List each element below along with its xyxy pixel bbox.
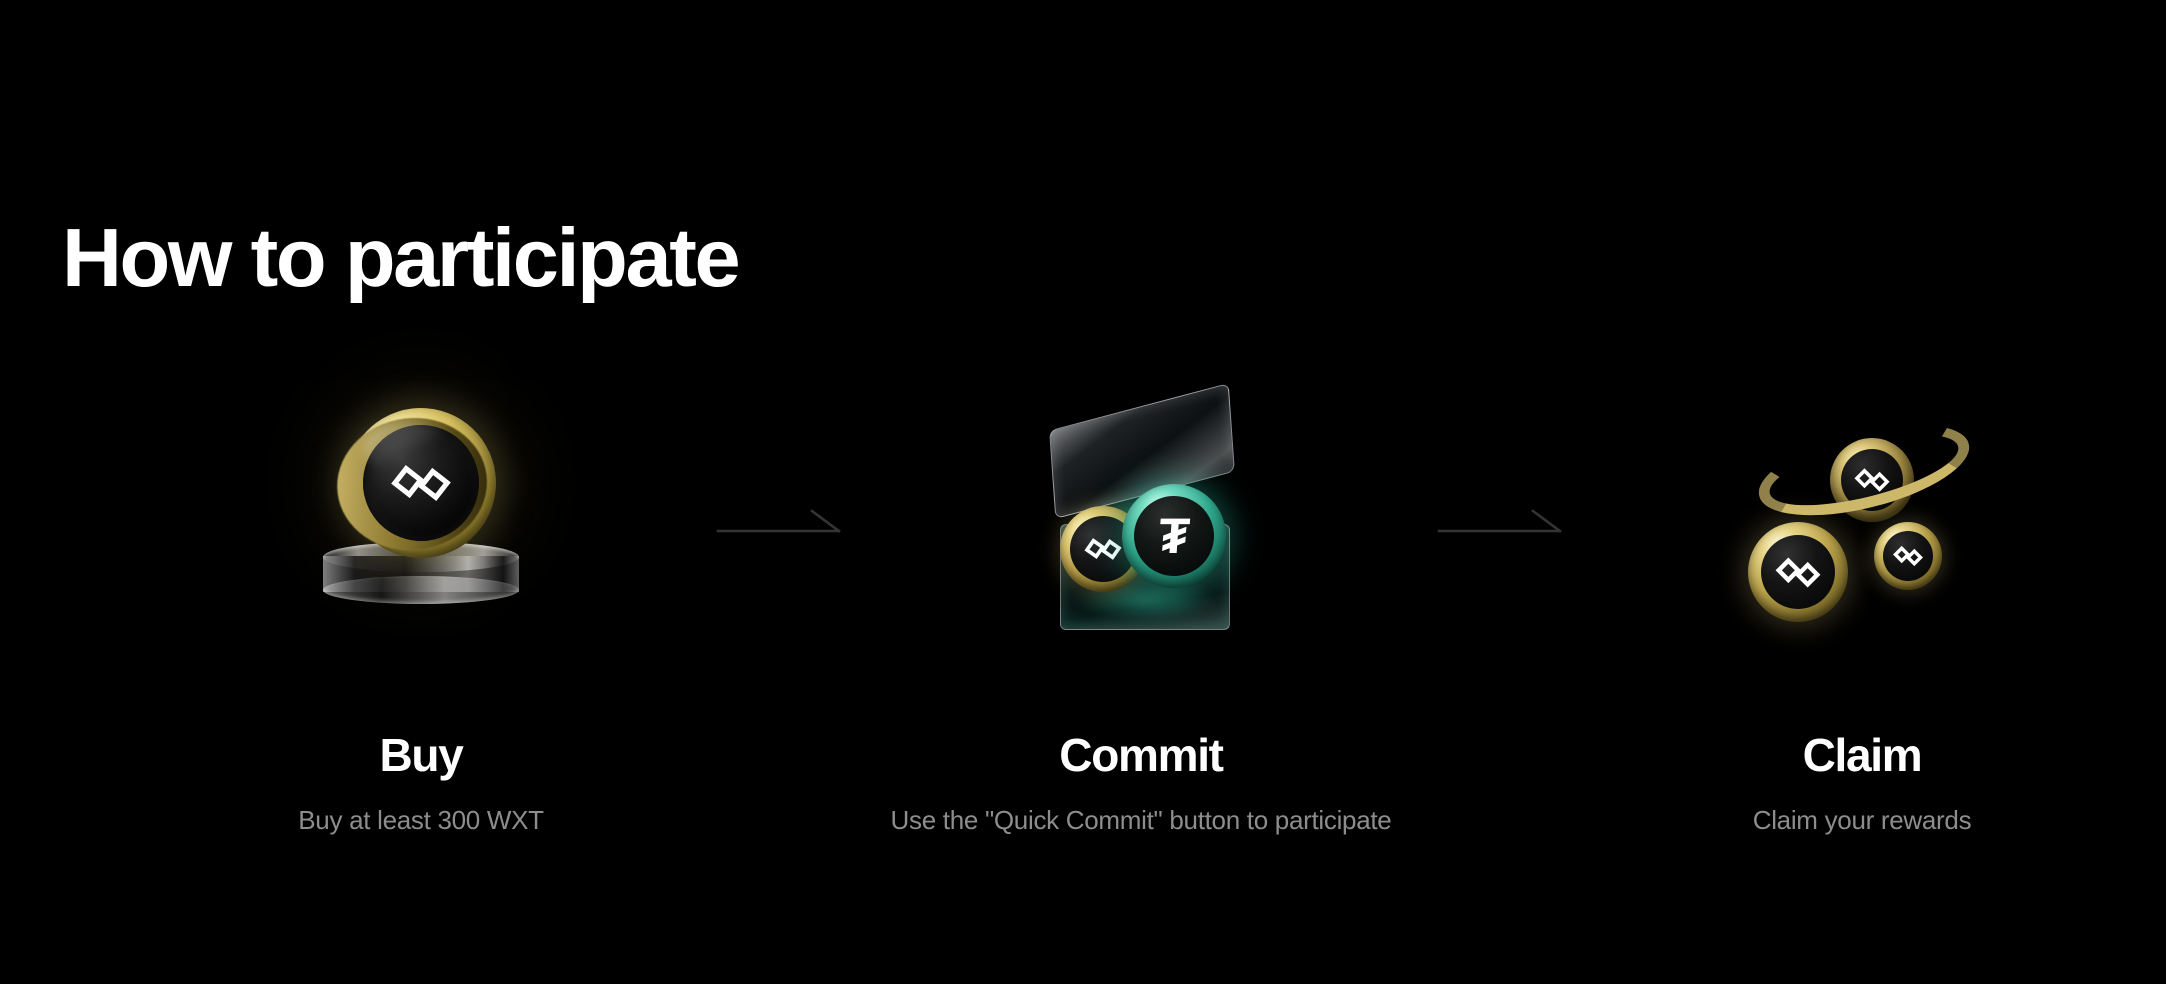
coin-face: ₮ (1130, 492, 1218, 580)
step-art-buy (141, 400, 701, 660)
steps-list: Buy Buy at least 300 WXT (0, 400, 2166, 880)
page-title: How to participate (62, 216, 738, 299)
wxt-logo-icon (1775, 556, 1821, 589)
step-item-buy: Buy Buy at least 300 WXT (141, 400, 701, 836)
coin-face (1761, 535, 1835, 609)
step-item-commit: ₮ Commit Use the "Quick Commit" button t… (861, 400, 1421, 836)
gold-coin-on-pedestal-icon (291, 400, 551, 660)
coin-face (356, 418, 485, 547)
wxt-logo-icon (388, 457, 455, 508)
step-art-commit: ₮ (861, 400, 1421, 660)
wxt-logo-icon (1082, 532, 1124, 566)
step-description: Use the "Quick Commit" button to partici… (861, 805, 1421, 836)
usdt-symbol: ₮ (1157, 511, 1191, 561)
step-item-claim: Claim Claim your rewards (1582, 400, 2142, 836)
step-description: Claim your rewards (1582, 805, 2142, 836)
wxt-coin-icon (1874, 522, 1942, 590)
wxt-logo-icon (1893, 545, 1923, 567)
step-title: Claim (1582, 732, 2142, 778)
step-title: Buy (141, 732, 701, 778)
how-to-participate-section: How to participate (0, 0, 2166, 984)
saturn-ring-with-coins-icon (1732, 400, 1992, 660)
wxt-coin-icon (1748, 522, 1848, 622)
step-title: Commit (861, 732, 1421, 778)
step-description: Buy at least 300 WXT (141, 805, 701, 836)
step-art-claim (1582, 400, 2142, 660)
coin-face (1883, 531, 1933, 581)
glass-treasure-chest-with-coins-icon: ₮ (1011, 400, 1271, 660)
